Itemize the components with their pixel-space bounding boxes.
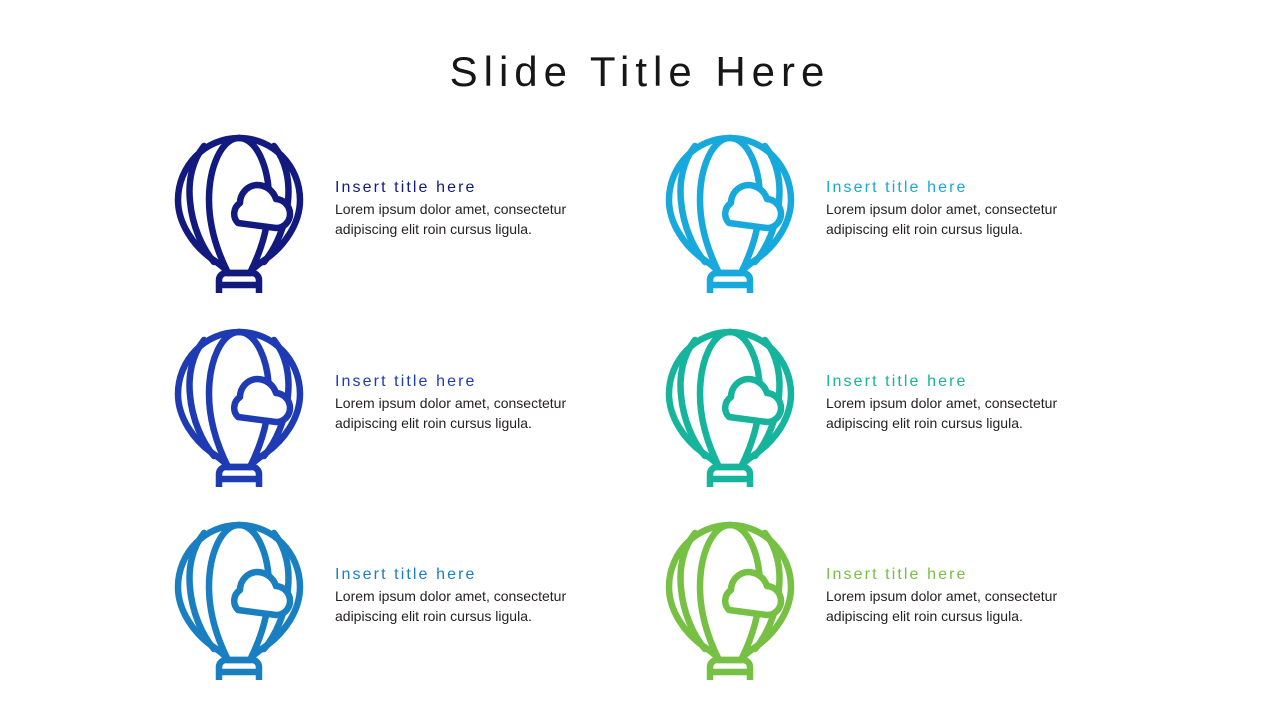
item-body-line-1: Lorem ipsum dolor amet, consectetur [335, 394, 631, 414]
list-item[interactable]: Insert title here Lorem ipsum dolor amet… [655, 133, 1125, 308]
item-body-line-2: adipiscing elit roin cursus ligula. [335, 220, 631, 240]
item-body-line-1: Lorem ipsum dolor amet, consectetur [826, 587, 1122, 607]
hot-air-balloon-icon [164, 327, 314, 487]
item-body-line-2: adipiscing elit roin cursus ligula. [335, 414, 631, 434]
list-item[interactable]: Insert title here Lorem ipsum dolor amet… [655, 520, 1125, 695]
items-grid: Insert title here Lorem ipsum dolor amet… [0, 0, 1280, 720]
item-text-block: Insert title here Lorem ipsum dolor amet… [826, 177, 1122, 239]
item-title: Insert title here [826, 177, 1122, 199]
item-body-line-2: adipiscing elit roin cursus ligula. [335, 607, 631, 627]
hot-air-balloon-icon [164, 133, 314, 293]
item-body-line-2: adipiscing elit roin cursus ligula. [826, 607, 1122, 627]
list-item[interactable]: Insert title here Lorem ipsum dolor amet… [164, 520, 634, 695]
item-body-line-1: Lorem ipsum dolor amet, consectetur [335, 587, 631, 607]
item-text-block: Insert title here Lorem ipsum dolor amet… [335, 564, 631, 626]
item-title: Insert title here [335, 371, 631, 393]
item-body-line-2: adipiscing elit roin cursus ligula. [826, 414, 1122, 434]
hot-air-balloon-icon [655, 327, 805, 487]
item-text-block: Insert title here Lorem ipsum dolor amet… [826, 371, 1122, 433]
hot-air-balloon-icon [164, 520, 314, 680]
list-item[interactable]: Insert title here Lorem ipsum dolor amet… [164, 133, 634, 308]
item-body-line-1: Lorem ipsum dolor amet, consectetur [826, 394, 1122, 414]
item-body-line-1: Lorem ipsum dolor amet, consectetur [826, 200, 1122, 220]
item-title: Insert title here [335, 177, 631, 199]
hot-air-balloon-icon [655, 520, 805, 680]
item-body: Lorem ipsum dolor amet, consectetur adip… [335, 394, 631, 433]
item-text-block: Insert title here Lorem ipsum dolor amet… [335, 177, 631, 239]
item-body: Lorem ipsum dolor amet, consectetur adip… [826, 394, 1122, 433]
item-body-line-1: Lorem ipsum dolor amet, consectetur [335, 200, 631, 220]
item-body-line-2: adipiscing elit roin cursus ligula. [826, 220, 1122, 240]
item-title: Insert title here [826, 371, 1122, 393]
item-title: Insert title here [826, 564, 1122, 586]
item-body: Lorem ipsum dolor amet, consectetur adip… [335, 200, 631, 239]
item-text-block: Insert title here Lorem ipsum dolor amet… [826, 564, 1122, 626]
list-item[interactable]: Insert title here Lorem ipsum dolor amet… [164, 327, 634, 502]
item-text-block: Insert title here Lorem ipsum dolor amet… [335, 371, 631, 433]
item-body: Lorem ipsum dolor amet, consectetur adip… [335, 587, 631, 626]
list-item[interactable]: Insert title here Lorem ipsum dolor amet… [655, 327, 1125, 502]
item-body: Lorem ipsum dolor amet, consectetur adip… [826, 587, 1122, 626]
hot-air-balloon-icon [655, 133, 805, 293]
item-body: Lorem ipsum dolor amet, consectetur adip… [826, 200, 1122, 239]
item-title: Insert title here [335, 564, 631, 586]
slide-canvas: Slide Title Here [0, 0, 1280, 720]
